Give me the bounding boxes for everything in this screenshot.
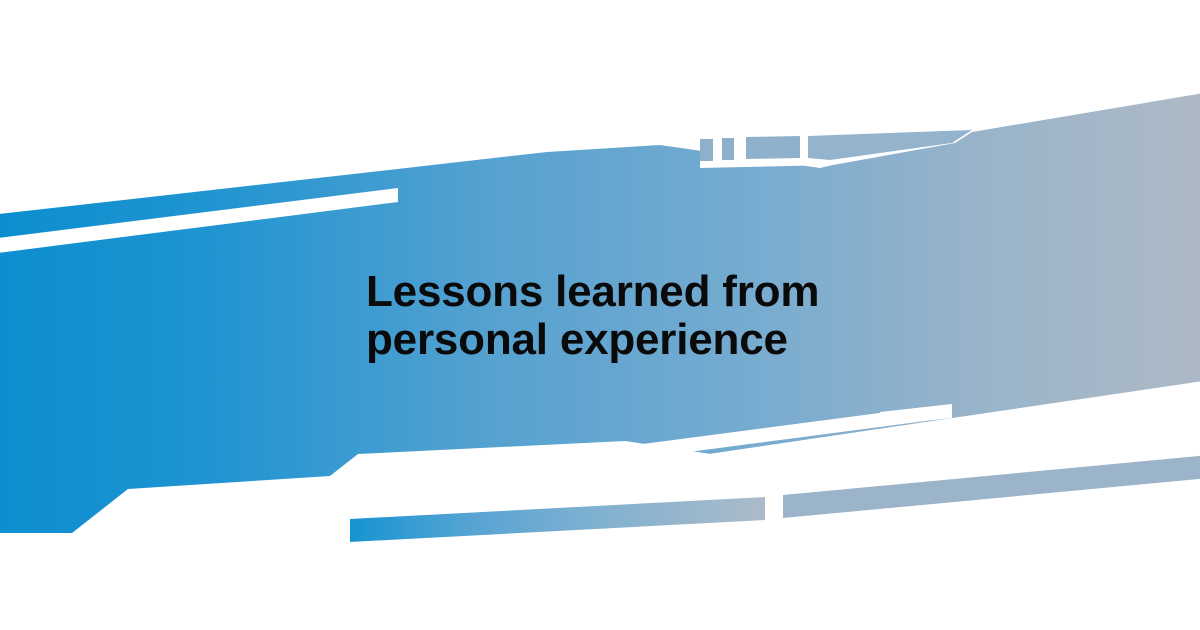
dash-short-bar [746, 136, 800, 159]
dash-square-1 [700, 139, 713, 161]
banner-card: Lessons learned from personal experience [0, 0, 1200, 630]
banner-background-art [0, 0, 1200, 630]
dash-square-2 [722, 138, 734, 160]
